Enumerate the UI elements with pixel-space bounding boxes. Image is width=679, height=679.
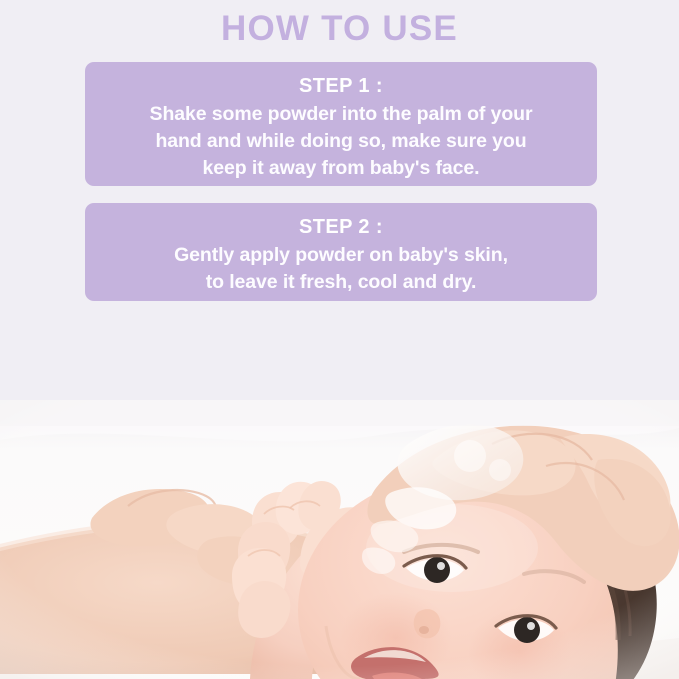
how-to-use-infographic: HOW TO USE STEP 1 : Shake some powder in… (0, 0, 679, 679)
page-title: HOW TO USE (0, 8, 679, 50)
step-2-line-1: Gently apply powder on baby's skin, (99, 242, 583, 269)
step-1-body: Shake some powder into the palm of your … (99, 101, 583, 182)
step-2-heading: STEP 2 : (99, 214, 583, 241)
step-1-line-2: hand and while doing so, make sure you (99, 128, 583, 155)
step-2-body: Gently apply powder on baby's skin, to l… (99, 242, 583, 296)
step-card-2: STEP 2 : Gently apply powder on baby's s… (85, 203, 597, 301)
step-1-line-1: Shake some powder into the palm of your (99, 101, 583, 128)
step-card-1: STEP 1 : Shake some powder into the palm… (85, 62, 597, 186)
step-1-line-3: keep it away from baby's face. (99, 155, 583, 182)
baby-powder-photo (0, 400, 679, 679)
step-1-heading: STEP 1 : (99, 73, 583, 100)
step-2-line-2: to leave it fresh, cool and dry. (99, 269, 583, 296)
